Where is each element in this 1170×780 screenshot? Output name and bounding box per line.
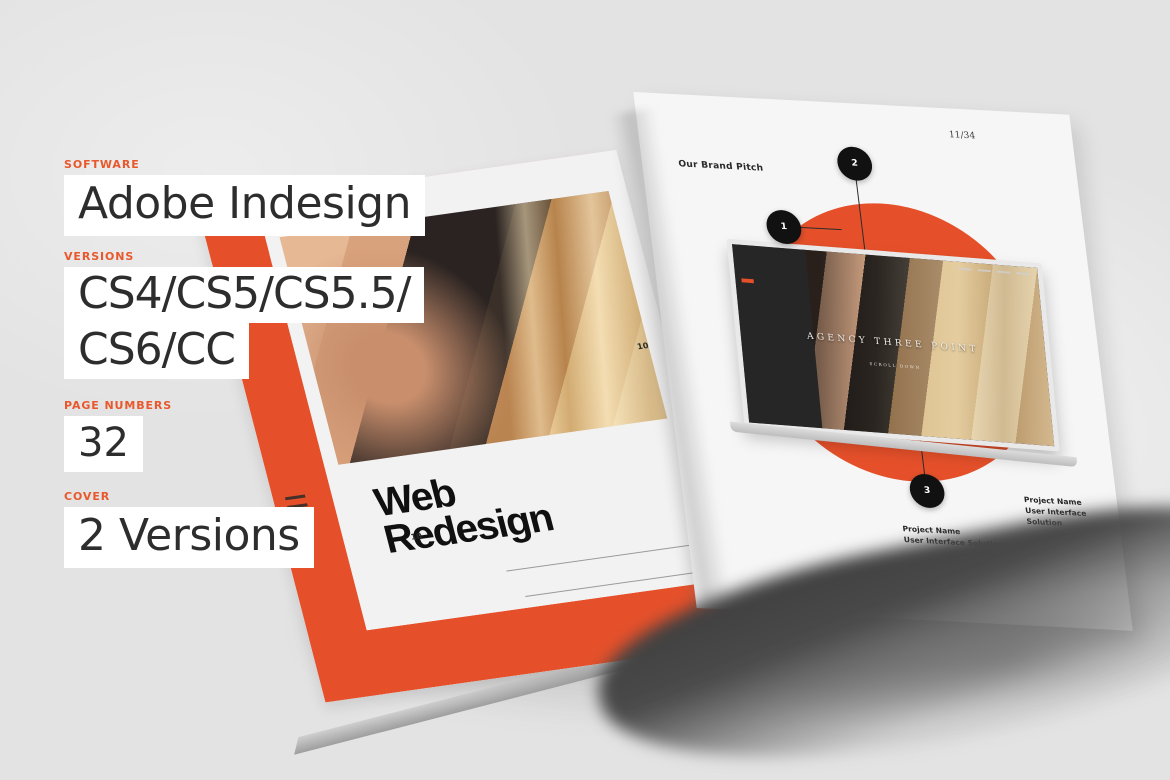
spec-item-page-numbers: PAGE NUMBERS 32 — [64, 399, 414, 473]
spec-item-versions: VERSIONS CS4/CS5/CS5.5/ CS6/CC — [64, 250, 414, 379]
spec-label-cover: COVER — [64, 490, 414, 503]
laptop-screen: AGENCY THREE POINT SCROLL DOWN — [732, 244, 1054, 446]
spec-value-versions-line-2: CS6/CC — [64, 323, 249, 379]
spec-label-software: SOFTWARE — [64, 158, 414, 171]
spec-value-page-numbers: 32 — [64, 416, 143, 473]
title-rule-1 — [506, 543, 706, 572]
right-page-folio: 11/34 — [948, 130, 976, 141]
spec-value-versions: CS4/CS5/CS5.5/ CS6/CC — [64, 267, 414, 379]
spec-panel: SOFTWARE Adobe Indesign VERSIONS CS4/CS5… — [64, 158, 414, 582]
spec-value-software: Adobe Indesign — [64, 175, 425, 236]
laptop-mockup: AGENCY THREE POINT SCROLL DOWN — [726, 239, 1059, 452]
callout-marker-2[interactable]: 2 — [835, 146, 874, 182]
spec-value-versions-line-1: CS4/CS5/CS5.5/ — [64, 267, 424, 323]
spec-value-cover: 2 Versions — [64, 507, 314, 568]
spec-item-cover: COVER 2 Versions — [64, 490, 414, 568]
mockup-canvas: RWDS. Web Redesign 10 10 11/34 Our Brand… — [0, 0, 1170, 780]
spec-label-versions: VERSIONS — [64, 250, 414, 263]
right-page-kicker: Our Brand Pitch — [678, 159, 764, 173]
spec-label-page-numbers: PAGE NUMBERS — [64, 399, 414, 412]
screen-brand-mark — [741, 278, 754, 283]
spec-item-software: SOFTWARE Adobe Indesign — [64, 158, 414, 236]
callout-marker-1[interactable]: 1 — [765, 209, 804, 245]
